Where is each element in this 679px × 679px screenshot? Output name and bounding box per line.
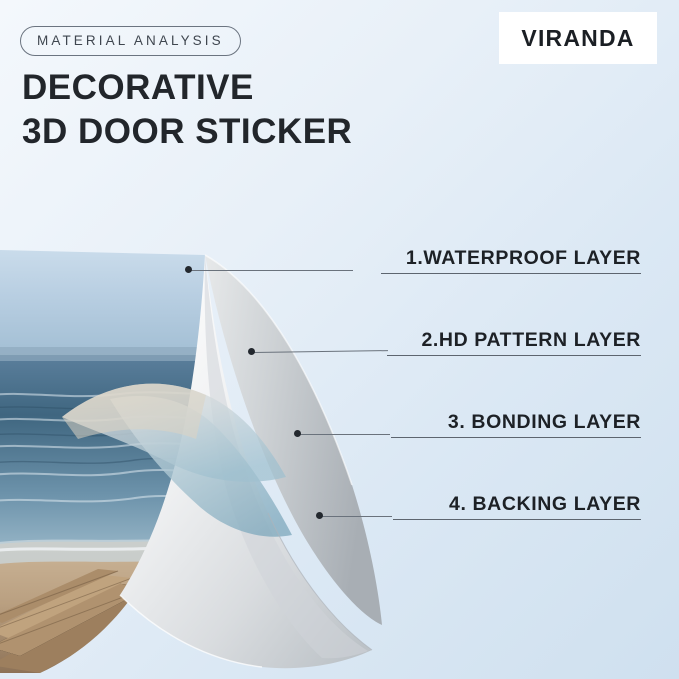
title-line-2: 3D DOOR STICKER <box>22 110 352 154</box>
callout-1-rule <box>381 273 641 274</box>
callout-2-rule <box>387 355 641 356</box>
callout-4-rule <box>393 519 641 520</box>
callout-3-label: 3. BONDING LAYER <box>448 411 641 434</box>
callout-1: 1.WATERPROOF LAYER <box>341 240 641 274</box>
brand-logo-box: VIRANDA <box>499 12 657 64</box>
callout-3: 3. BONDING LAYER <box>341 404 641 438</box>
leader-line-4 <box>320 516 392 517</box>
brand-name: VIRANDA <box>521 25 634 52</box>
callout-1-label: 1.WATERPROOF LAYER <box>406 247 641 270</box>
anchor-dot-4 <box>316 512 323 519</box>
eyebrow-badge: MATERIAL ANALYSIS <box>20 26 241 56</box>
anchor-dot-2 <box>248 348 255 355</box>
page-title: DECORATIVE 3D DOOR STICKER <box>22 66 352 154</box>
title-line-1: DECORATIVE <box>22 68 254 107</box>
leader-line-1 <box>188 270 353 271</box>
callout-4-label: 4. BACKING LAYER <box>449 493 641 516</box>
anchor-dot-1 <box>185 266 192 273</box>
callout-2-label: 2.HD PATTERN LAYER <box>421 329 641 352</box>
callout-4: 4. BACKING LAYER <box>341 486 641 520</box>
poster-canvas: MATERIAL ANALYSIS DECORATIVE 3D DOOR STI… <box>0 0 679 679</box>
leader-line-3 <box>298 434 390 435</box>
anchor-dot-3 <box>294 430 301 437</box>
callout-3-rule <box>391 437 641 438</box>
